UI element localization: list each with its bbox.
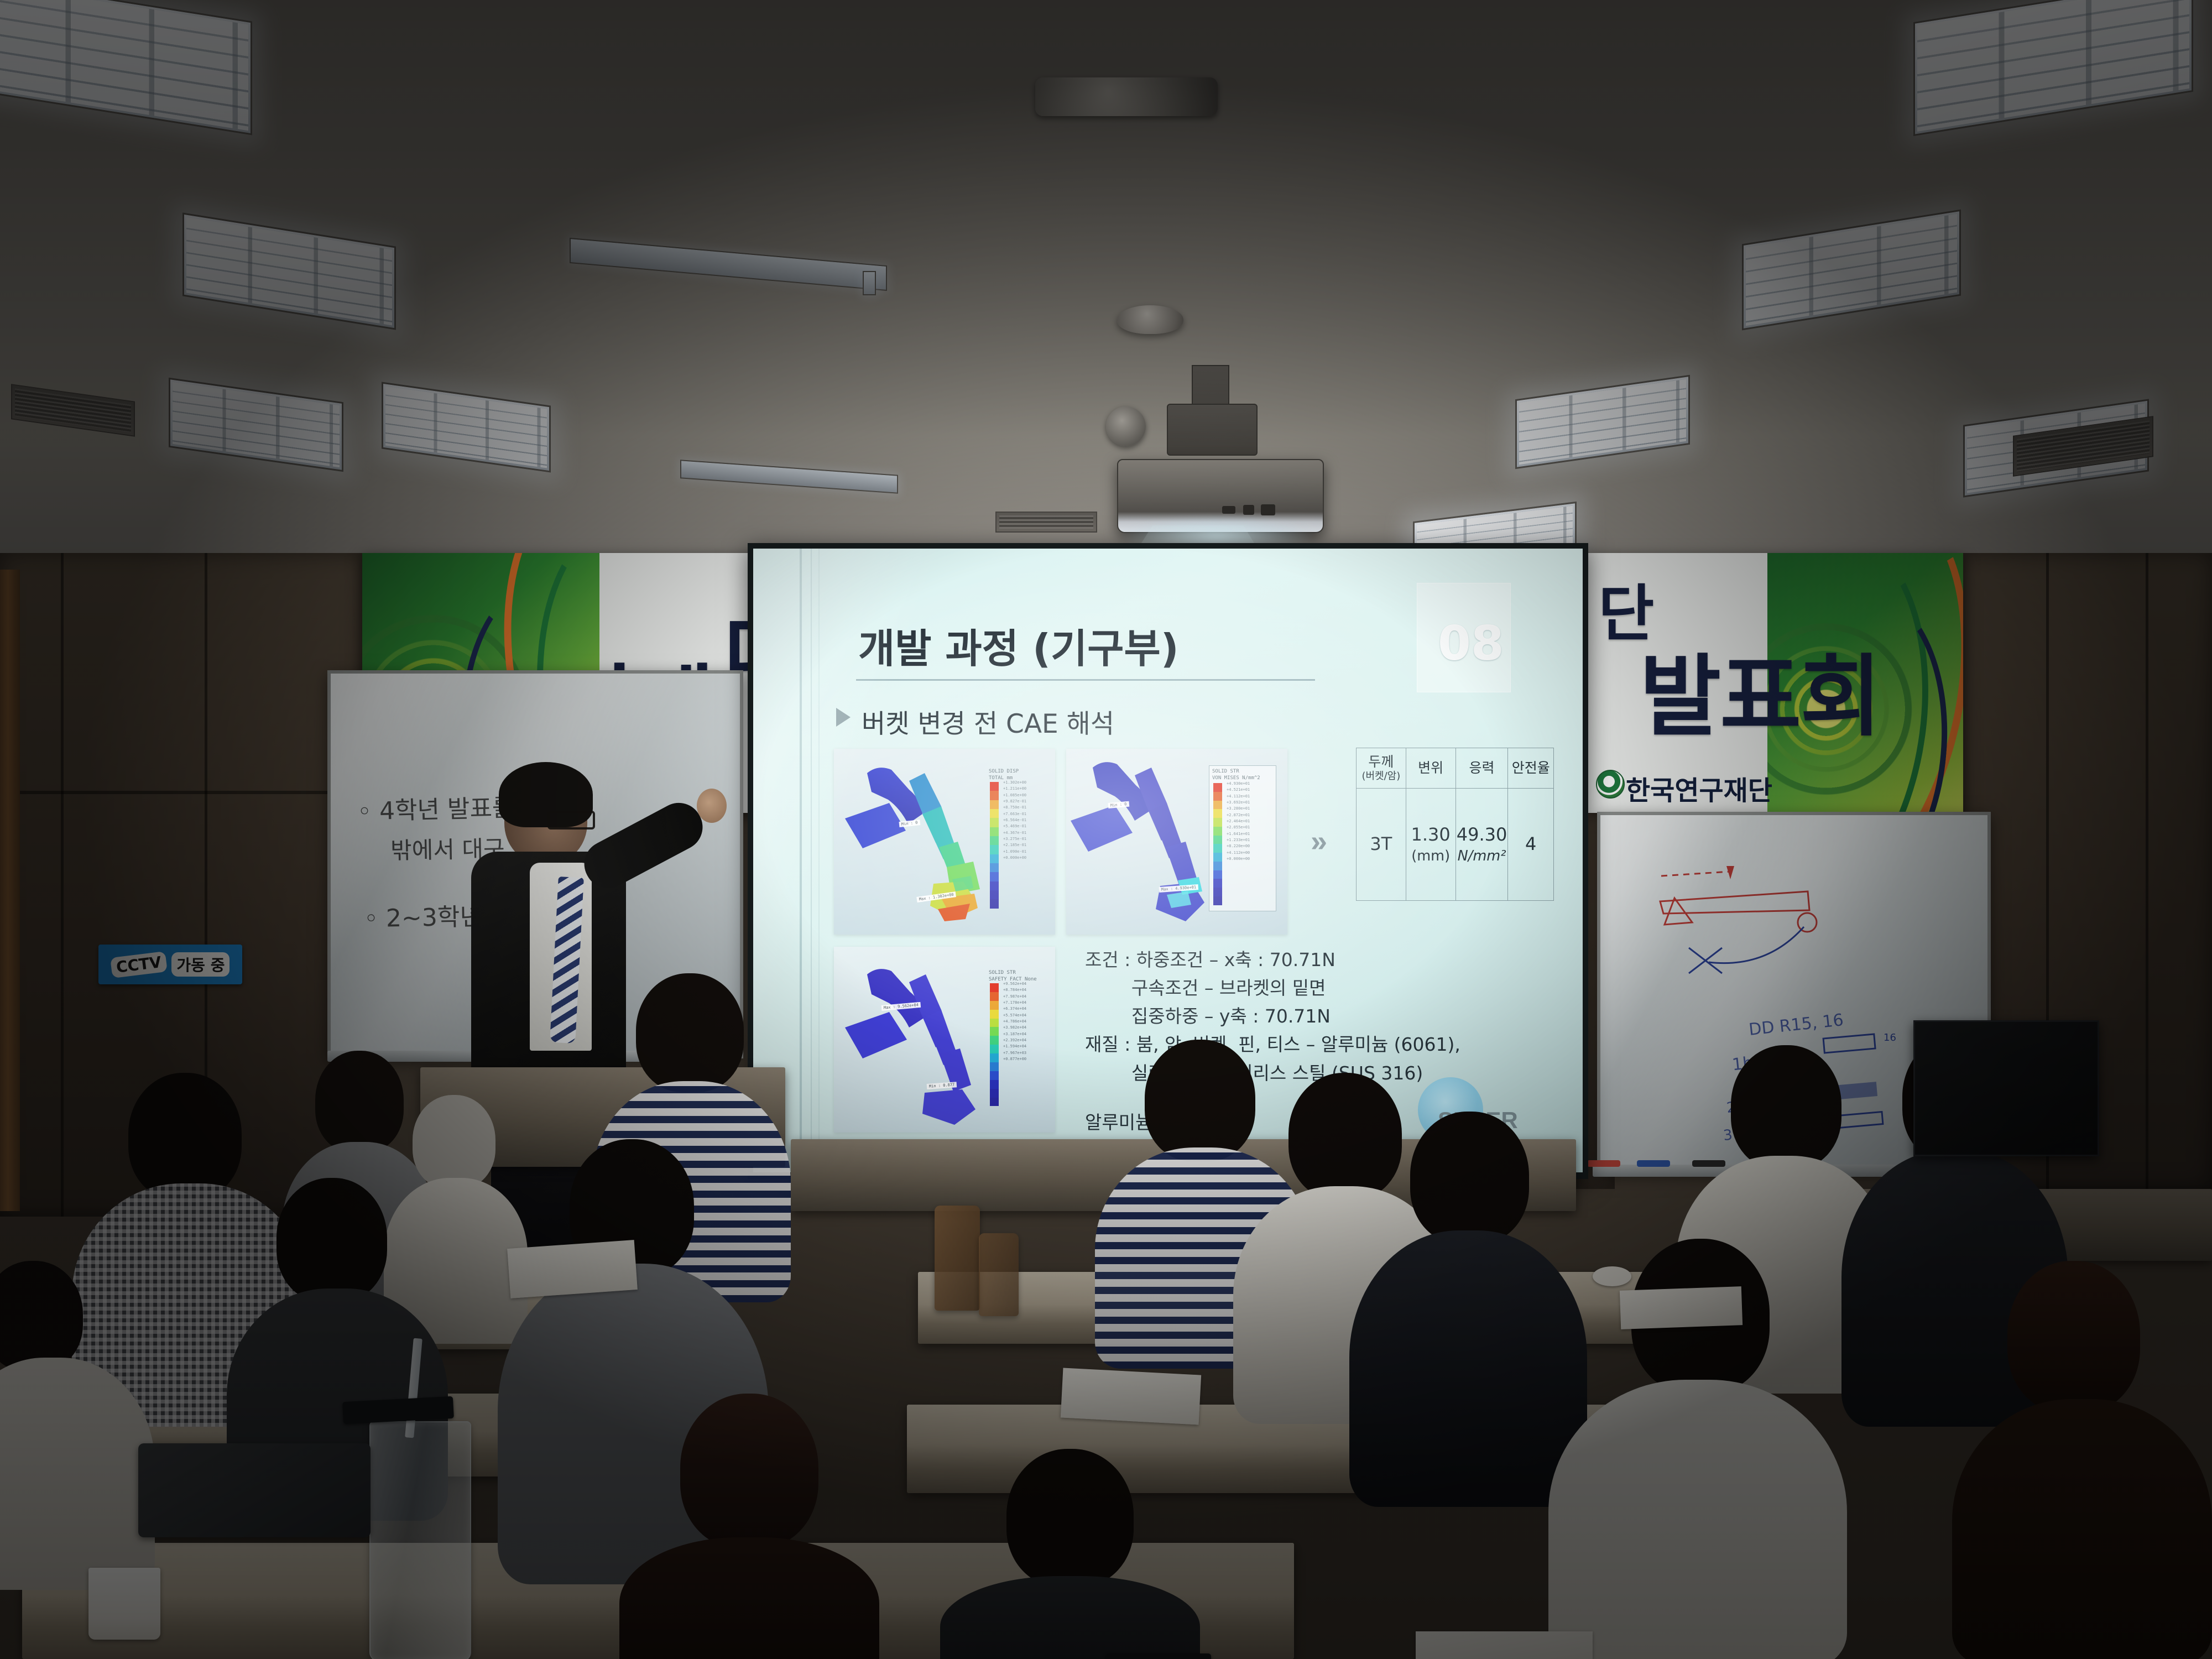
table-header-safety: 안전율 — [1508, 748, 1554, 789]
table-header-thickness: 두께 (버켓/암) — [1357, 748, 1406, 789]
cctv-label: 가동 중 — [171, 952, 229, 977]
cae-image-safety-factor: Max : 9.562e+04 Min : 0.877 SOLID STR SA… — [834, 947, 1055, 1133]
audience-member — [1947, 1261, 2212, 1659]
cae-colorbar — [990, 983, 999, 1107]
smoke-detector — [1117, 305, 1183, 334]
audience-body — [940, 1576, 1200, 1659]
table-header-stress: 응력 — [1455, 748, 1508, 789]
cell-displacement: 1.30 (mm) — [1406, 788, 1455, 900]
cae-results-table: 두께 (버켓/암) 변위 응력 안전율 3T 1.30 (mm) 49.30 N… — [1356, 748, 1554, 901]
paper-cup[interactable] — [88, 1568, 160, 1640]
cae-legend-title: SOLID STR — [989, 970, 1016, 975]
cae-legend-title: SOLID STR — [1212, 769, 1239, 774]
cae-image-displacement: Min : 0 Max : 1.302e+00 SOLID DISP TOTAL… — [834, 749, 1055, 935]
slide-deco-line — [818, 549, 820, 1172]
audience-head — [636, 973, 744, 1092]
notepad[interactable] — [1416, 1631, 1593, 1659]
cae-legend-values: +1.302e+00+1.211e+00+1.085e+00+9.827e-01… — [1003, 780, 1026, 861]
water-bottle[interactable] — [935, 1206, 980, 1311]
cae-legend-title: SOLID DISP — [989, 769, 1019, 774]
cae-legend-values: +4.930e+01+4.521e+01+4.112e+01+3.692e+01… — [1227, 781, 1250, 862]
audience-head — [2007, 1261, 2140, 1413]
audience-member — [918, 1449, 1206, 1659]
handout-paper[interactable] — [507, 1240, 638, 1298]
laptop-bag[interactable] — [138, 1443, 371, 1537]
slide-deco-line — [800, 549, 802, 1172]
audience-body — [0, 1358, 155, 1590]
audience-head — [0, 1261, 83, 1371]
door-frame — [0, 570, 20, 1211]
cell-safety-factor: 4 — [1508, 788, 1554, 900]
wood-seam — [0, 791, 365, 794]
cae-colorbar — [990, 782, 999, 909]
audience-head — [1006, 1449, 1134, 1587]
cae-legend-values: +9.562e+04+8.784e+04+7.987e+04+7.178e+04… — [1003, 981, 1026, 1062]
ceiling-sprinkler-head — [1106, 406, 1146, 446]
fea-model-excavator-arm — [841, 957, 1006, 1128]
cell-thickness: 3T — [1357, 788, 1406, 900]
audience-head — [128, 1073, 242, 1200]
table-header-row: 두께 (버켓/암) 변위 응력 안전율 — [1357, 748, 1554, 789]
back-monitor — [1913, 1020, 2099, 1156]
audience-body — [619, 1537, 879, 1659]
slide-number: 08 — [1438, 616, 1504, 671]
drink-tumbler[interactable] — [369, 1421, 471, 1659]
wood-seam — [2146, 553, 2148, 1189]
audience-head — [276, 1178, 387, 1302]
lecture-hall-scene: 기계·자 주최 : 대구디 대 단 발표회 한국연구재단 ◦ 4학년 발표를 밖… — [0, 0, 2212, 1659]
projector-mount-plate — [1167, 404, 1258, 456]
sponsor-logo-icon — [1596, 770, 1625, 799]
water-bottle[interactable] — [979, 1233, 1019, 1316]
handout-paper[interactable] — [1061, 1368, 1201, 1425]
event-banner-right: 단 발표회 한국연구재단 — [1587, 553, 1963, 813]
projector-port — [1243, 505, 1254, 515]
coffee-lid — [1593, 1266, 1631, 1286]
presenter-hand — [697, 789, 727, 823]
presenter-glasses-icon — [547, 811, 595, 830]
chevron-right-icon: » — [1311, 824, 1324, 858]
cctv-notice-sign: CCTV 가동 중 — [98, 945, 242, 984]
table-header-displacement: 변위 — [1406, 748, 1455, 789]
audience-member — [586, 1394, 896, 1659]
cae-colorbar — [1213, 783, 1222, 906]
presenter-raised-arm — [576, 795, 711, 896]
slide-title: 개발 과정 (기구부) — [858, 616, 1179, 674]
audience-body — [1952, 1399, 2212, 1659]
bullet-arrow-icon — [836, 708, 851, 727]
whiteboard-beam-diagram: ( ( ) | — [1656, 865, 1910, 1020]
cae-legend-subtitle: VON MISES N/mm^2 — [1212, 775, 1260, 781]
cell-stress: 49.30 N/mm² — [1455, 788, 1508, 900]
projector-port — [1222, 506, 1235, 514]
wood-seam — [61, 553, 64, 1217]
ceiling-air-vent — [995, 512, 1097, 533]
ceiling-sprinkler — [1035, 77, 1218, 116]
audience-member — [0, 1261, 155, 1571]
audience-head — [1731, 1045, 1841, 1170]
ceiling-slim-light — [863, 271, 876, 295]
projector-port — [1261, 504, 1275, 515]
slide-title-rule — [856, 679, 1315, 681]
banner-right-title: 발표회 — [1640, 625, 1881, 753]
whiteboard-marker-blue[interactable] — [1637, 1160, 1670, 1167]
handout-paper[interactable] — [1620, 1286, 1743, 1329]
audience-head — [413, 1095, 495, 1189]
cctv-badge: CCTV — [110, 951, 168, 978]
cae-image-stress: Min : 0 Max : 4.930e+01 SOLID STR VON MI… — [1066, 749, 1287, 935]
slide-deco-line — [811, 549, 812, 1172]
audience-head — [680, 1394, 818, 1548]
table-row: 3T 1.30 (mm) 49.30 N/mm² 4 — [1357, 788, 1554, 900]
smartphone[interactable] — [1106, 1653, 1211, 1659]
audience-head — [1410, 1112, 1529, 1244]
banner-right-sponsor: 한국연구재단 — [1626, 769, 1772, 807]
slide-bullet: 버켓 변경 전 CAE 해석 — [862, 702, 1114, 740]
audience-body — [1548, 1380, 1847, 1659]
whiteboard-marker-red[interactable] — [1587, 1160, 1620, 1167]
